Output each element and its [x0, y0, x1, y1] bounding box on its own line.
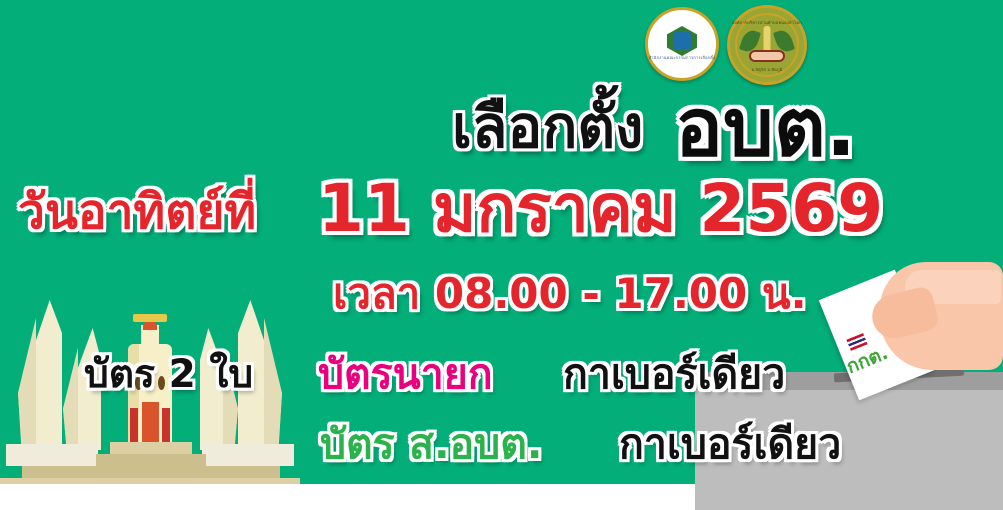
monument-pedestal-left: [6, 444, 98, 466]
council-ballot-label: บัตร ส.อบต.: [320, 424, 542, 465]
date-day-label: วันอาทิตย์ที่: [18, 188, 256, 236]
monument-pedestal-right: [202, 444, 294, 466]
voting-time: เวลา 08.00 - 17.00 น.: [333, 273, 807, 315]
local-administration-emblem: องค์การบริหารส่วนตำบลหนองบัวโคก อ.จัตุรั…: [727, 5, 807, 85]
handshake-icon: [749, 50, 785, 62]
emblem-caption-right-top: องค์การบริหารส่วนตำบลหนองบัวโคก: [732, 19, 802, 26]
monument-door-center: [142, 402, 159, 444]
mayor-ballot-label: บัตรนายก: [318, 354, 493, 395]
date-value: 11 มกราคม 2569: [318, 176, 883, 242]
monument-tower-cap-plate: [133, 314, 167, 322]
council-ballot-note: กาเบอร์เดียว: [619, 424, 841, 465]
emblem-caption-right-bottom: อ.จัตุรัส จ.ชัยภูมิ: [751, 66, 782, 73]
ballot-count-label: บัตร 2 ใบ: [84, 355, 253, 394]
headline-main: อบต.: [675, 88, 856, 168]
monument-door-left: [130, 408, 138, 444]
emblem-pillar-shape: [764, 26, 771, 52]
monument-door-right: [162, 408, 170, 444]
ballot-box-bottom-overlap: [695, 484, 1003, 510]
monument-wing-left-shade: [63, 328, 78, 450]
election-commission-emblem: สำนักงานคณะกรรมการการเลือกตั้ง: [645, 7, 719, 81]
headline-prefix: เลือกตั้ง: [452, 98, 643, 156]
election-announcement-poster: สำนักงานคณะกรรมการการเลือกตั้ง องค์การบร…: [0, 0, 1003, 510]
emblem-caption-left: สำนักงานคณะกรรมการการเลือกตั้ง: [649, 54, 716, 61]
mayor-ballot-note: กาเบอร์เดียว: [563, 354, 785, 395]
emblem-crest-inner-shape: [673, 32, 691, 50]
monument-wing-far-right-shade: [264, 300, 282, 450]
monument-wing-far-left-shade: [18, 300, 36, 450]
